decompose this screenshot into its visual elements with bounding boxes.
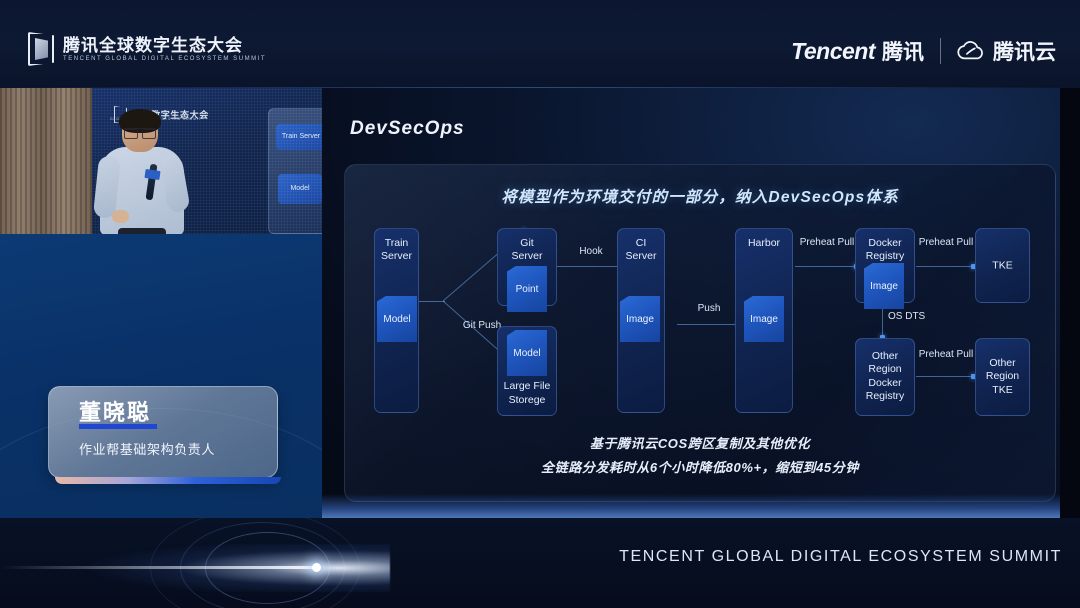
node-other-region-tke-label: Other Region TKE bbox=[976, 357, 1029, 397]
file-git-point: Point bbox=[507, 266, 547, 312]
node-ci-server-label: CI Server bbox=[618, 237, 664, 264]
stage-node-train-server: Train Server bbox=[276, 124, 322, 150]
edge-label-preheat-pull-3: Preheat Pull bbox=[917, 348, 975, 361]
tencent-cloud-label: 腾讯云 bbox=[993, 36, 1056, 66]
stage-photo: 全球数字生态大会 GLOBAL DIGITAL ECOSYSTEM SUMMIT… bbox=[0, 88, 322, 234]
connector-push bbox=[677, 324, 740, 325]
file-docker-image: Image bbox=[864, 263, 904, 309]
node-other-region-docker-registry: Other Region Docker Registry bbox=[855, 338, 915, 416]
node-other-region-registry-label: Other Region Docker Registry bbox=[856, 350, 914, 404]
speaker-name-card: 董晓聪 作业帮基础架构负责人 bbox=[48, 386, 278, 478]
summit-emblem-icon bbox=[28, 32, 54, 66]
speaker-name: 董晓聪 bbox=[79, 401, 151, 425]
node-tke: TKE bbox=[975, 228, 1030, 303]
stage-wall bbox=[0, 88, 92, 234]
slide-title: DevSecOps bbox=[350, 118, 465, 140]
node-lfs-label: Large File Storege bbox=[498, 380, 556, 407]
header-band: 腾讯全球数字生态大会 TENCENT GLOBAL DIGITAL ECOSYS… bbox=[0, 0, 1080, 88]
node-train-server-label: Train Server bbox=[375, 237, 418, 264]
cloud-icon bbox=[957, 41, 985, 61]
tencent-logo-en: Tencent bbox=[791, 38, 875, 65]
slide-right-edge bbox=[1060, 88, 1080, 518]
file-train-model: Model bbox=[377, 296, 417, 342]
footnote-line-1: 基于腾讯云COS跨区复制及其他优化 bbox=[345, 432, 1055, 457]
summit-title-en: TENCENT GLOBAL DIGITAL ECOSYSTEM SUMMIT bbox=[63, 56, 266, 62]
summit-title-cn: 腾讯全球数字生态大会 bbox=[63, 37, 266, 54]
stage-node-model: Model bbox=[278, 174, 322, 204]
edge-label-os-dts: OS DTS bbox=[888, 310, 948, 323]
file-lfs-model: Model bbox=[507, 330, 547, 376]
file-ci-image: Image bbox=[620, 296, 660, 342]
live-video-panel: 全球数字生态大会 GLOBAL DIGITAL ECOSYSTEM SUMMIT… bbox=[0, 88, 322, 550]
stage-slide-panel bbox=[268, 108, 322, 234]
connector-preheat-pull-1 bbox=[795, 266, 857, 267]
edge-label-preheat-pull-2: Preheat Pull bbox=[917, 236, 975, 249]
node-docker-registry-label: Docker Registry bbox=[856, 237, 914, 264]
diagram-footnote: 基于腾讯云COS跨区复制及其他优化 全链路分发耗时从6个小时降低80%+，缩短到… bbox=[345, 432, 1055, 481]
footer-text: TENCENT GLOBAL DIGITAL ECOSYSTEM SUMMIT bbox=[619, 548, 1062, 566]
file-harbor-image: Image bbox=[744, 296, 784, 342]
tencent-logo: Tencent 腾讯 bbox=[791, 36, 924, 66]
tencent-logo-group: Tencent 腾讯 腾讯云 bbox=[791, 36, 1056, 66]
connector-train-branch bbox=[419, 301, 445, 302]
slide-bottom-glow bbox=[322, 494, 1080, 518]
node-git-server-label: Git Server bbox=[498, 237, 556, 264]
node-other-region-tke: Other Region TKE bbox=[975, 338, 1030, 416]
connector-preheat-pull-2 bbox=[916, 266, 974, 267]
logo-divider bbox=[940, 38, 941, 64]
footnote-line-2: 全链路分发耗时从6个小时降低80%+，缩短到45分钟 bbox=[345, 456, 1055, 481]
connector-preheat-pull-3 bbox=[916, 376, 974, 377]
summit-logo: 腾讯全球数字生态大会 TENCENT GLOBAL DIGITAL ECOSYS… bbox=[28, 32, 266, 66]
tencent-cloud-logo: 腾讯云 bbox=[957, 36, 1056, 66]
edge-label-hook: Hook bbox=[558, 245, 624, 258]
connector-hook bbox=[557, 266, 624, 267]
slide-area: DevSecOps 将模型作为环境交付的一部分，纳入DevSecOps体系 基于… bbox=[322, 88, 1080, 518]
speaker-figure bbox=[96, 112, 188, 234]
speaker-title: 作业帮基础架构负责人 bbox=[79, 439, 277, 458]
edge-label-preheat-pull-1: Preheat Pull bbox=[796, 236, 858, 249]
presentation-screenshot: 腾讯全球数字生态大会 TENCENT GLOBAL DIGITAL ECOSYS… bbox=[0, 0, 1080, 608]
tencent-logo-cn: 腾讯 bbox=[882, 36, 924, 66]
node-harbor-label: Harbor bbox=[736, 237, 792, 250]
diagram-headline: 将模型作为环境交付的一部分，纳入DevSecOps体系 bbox=[345, 185, 1055, 207]
comet-head bbox=[312, 563, 321, 572]
footer-band: TENCENT GLOBAL DIGITAL ECOSYSTEM SUMMIT bbox=[0, 518, 1080, 608]
edge-label-push: Push bbox=[678, 302, 740, 315]
comet-trail bbox=[0, 566, 320, 569]
node-tke-label: TKE bbox=[976, 259, 1029, 272]
